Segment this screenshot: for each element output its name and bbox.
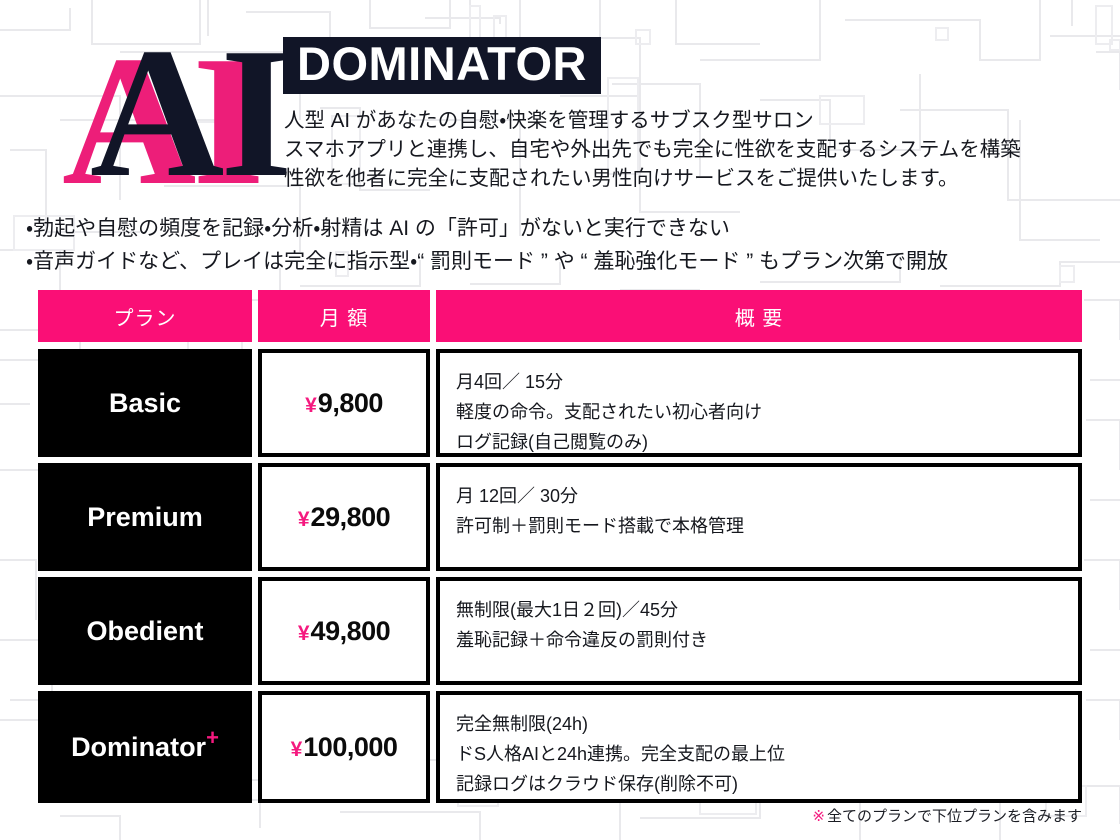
desc-line: 月 12回／ 30分	[456, 481, 1062, 511]
lede-line: 人型 AI があなたの自慰・快楽を管理するサブスク型サロン	[284, 106, 1084, 135]
currency-symbol: ¥	[291, 738, 303, 762]
plan-name-label: Dominator	[71, 732, 206, 762]
desc-line: 完全無制限(24h)	[456, 709, 1062, 739]
table-row[interactable]: Dominator+ ¥100,000 完全無制限(24h) ドS人格AIと24…	[38, 691, 1082, 803]
bullet-item: ・音声ガイドなど、プレイは完全に指示型・“ 罰則モード ” や “ 羞恥強化モー…	[26, 245, 1096, 278]
plan-name-cell: Dominator+	[38, 691, 252, 803]
desc-line: 許可制＋罰則モード搭載で本格管理	[456, 511, 1062, 541]
plan-name-cell: Obedient	[38, 577, 252, 685]
currency-symbol: ¥	[298, 622, 310, 646]
lede-line: 性欲を他者に完全に支配されたい男性向けサービスをご提供いたします。	[284, 164, 1084, 193]
title-block: DOMINATOR	[283, 37, 601, 94]
desc-line: 無制限(最大1日２回)／45分	[456, 595, 1062, 625]
logo-ai-main: AI	[90, 20, 289, 206]
plan-price-cell: ¥29,800	[258, 463, 430, 571]
plan-name-label: Basic	[109, 388, 181, 418]
plan-name-label: Premium	[87, 502, 203, 532]
plan-name-label: Obedient	[86, 616, 203, 646]
price-amount: 29,800	[311, 502, 391, 533]
price-amount: 100,000	[303, 732, 397, 763]
desc-line: 軽度の命令。支配されたい初心者向け	[456, 397, 1062, 427]
lede-paragraph: 人型 AI があなたの自慰・快楽を管理するサブスク型サロン スマホアプリと連携し…	[284, 106, 1084, 193]
lede-line: スマホアプリと連携し、自宅や外出先でも完全に性欲を支配するシステムを構築	[284, 135, 1084, 164]
column-header-desc: 概 要	[436, 290, 1082, 342]
table-row[interactable]: Obedient ¥49,800 無制限(最大1日２回)／45分 羞恥記録＋命令…	[38, 577, 1082, 685]
plan-description-cell: 無制限(最大1日２回)／45分 羞恥記録＋命令違反の罰則付き	[436, 577, 1082, 685]
plan-price-cell: ¥100,000	[258, 691, 430, 803]
page-title: DOMINATOR	[297, 39, 587, 88]
plan-price-cell: ¥9,800	[258, 349, 430, 457]
asterisk-mark-icon: ※	[812, 808, 825, 825]
desc-line: ドS人格AIと24h連携。完全支配の最上位	[456, 739, 1062, 769]
desc-line: 記録ログはクラウド保存(削除不可)	[456, 769, 1062, 799]
price-amount: 9,800	[318, 388, 383, 419]
bullet-item: ・勃起や自慰の頻度を記録・分析・射精は AI の「許可」がないと実行できない	[26, 212, 1096, 245]
desc-line: 羞恥記録＋命令違反の罰則付き	[456, 625, 1062, 655]
table-row[interactable]: Premium ¥29,800 月 12回／ 30分 許可制＋罰則モード搭載で本…	[38, 463, 1082, 571]
desc-line: ログ記録(自己閲覧のみ)	[456, 427, 1062, 457]
plan-name-cell: Premium	[38, 463, 252, 571]
plan-description-cell: 月4回／ 15分 軽度の命令。支配されたい初心者向け ログ記録(自己閲覧のみ)	[436, 349, 1082, 457]
column-header-price: 月 額	[258, 290, 430, 342]
table-header-row: プラン 月 額 概 要	[38, 290, 1082, 342]
currency-symbol: ¥	[305, 394, 317, 418]
currency-symbol: ¥	[298, 508, 310, 532]
desc-line: 月4回／ 15分	[456, 367, 1062, 397]
price-amount: 49,800	[311, 616, 391, 647]
header: AI AI DOMINATOR 人型 AI があなたの自慰・快楽を管理するサブス…	[0, 0, 1120, 285]
plan-price-cell: ¥49,800	[258, 577, 430, 685]
table-row[interactable]: Basic ¥9,800 月4回／ 15分 軽度の命令。支配されたい初心者向け …	[38, 349, 1082, 457]
footnote-text: 全てのプランで下位プランを含みます	[827, 808, 1082, 825]
plan-plus-badge: +	[206, 725, 219, 750]
plan-description-cell: 完全無制限(24h) ドS人格AIと24h連携。完全支配の最上位 記録ログはクラ…	[436, 691, 1082, 803]
plan-name-cell: Basic	[38, 349, 252, 457]
plan-pricing-table: プラン 月 額 概 要 Basic ¥9,800 月4回／ 15分 軽度の命令。…	[38, 290, 1082, 803]
plan-description-cell: 月 12回／ 30分 許可制＋罰則モード搭載で本格管理	[436, 463, 1082, 571]
logo-ai: AI AI	[62, 14, 282, 214]
footnote: ※全てのプランで下位プランを含みます	[812, 805, 1082, 826]
feature-bullets: ・勃起や自慰の頻度を記録・分析・射精は AI の「許可」がないと実行できない ・…	[26, 212, 1096, 278]
column-header-plan: プラン	[38, 290, 252, 342]
